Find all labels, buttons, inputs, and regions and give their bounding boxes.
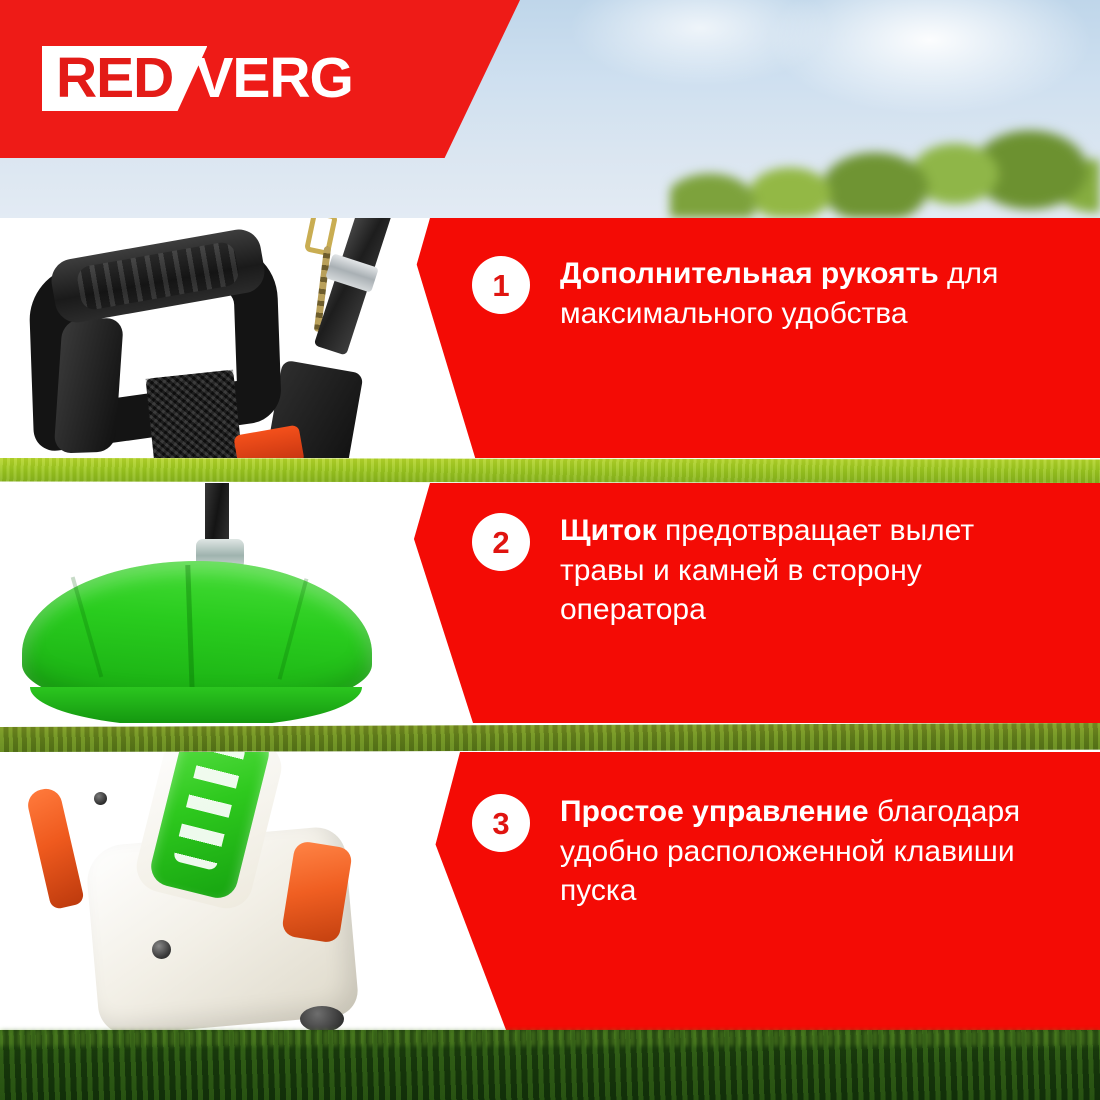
feature-description-3: Простое управление благодаря удобно расп… — [560, 792, 1060, 911]
feature-title-1: Дополнительная рукоять — [560, 257, 939, 290]
body-foot — [300, 1006, 344, 1030]
logo-text-verg: VERG — [195, 46, 353, 111]
grass-divider-1 — [0, 458, 1100, 483]
feature-text-block-1: 1 Дополнительная рукоять для максимально… — [472, 254, 1060, 333]
logo-red-badge: RED — [42, 46, 207, 111]
start-lever — [25, 786, 85, 911]
logo-text-red: RED — [56, 50, 173, 107]
grass-divider-2 — [0, 723, 1100, 752]
guard-lip — [30, 687, 362, 723]
step-badge-2: 2 — [472, 513, 530, 571]
feature-description-2: Щиток предотвращает вылет травы и камней… — [560, 511, 1060, 630]
feature-panel-2: 2 Щиток предотвращает вылет травы и камн… — [0, 483, 1100, 723]
feature-text-block-3: 3 Простое управление благодаря удобно ра… — [472, 792, 1060, 911]
brand-logo[interactable]: RED VERG — [42, 46, 353, 111]
feature-description-1: Дополнительная рукоять для максимального… — [560, 254, 1060, 333]
feature-title-3: Простое управление — [560, 795, 869, 828]
tree-line-background — [670, 108, 1100, 218]
body-screw-lower — [152, 940, 171, 959]
step-badge-1: 1 — [472, 256, 530, 314]
feature-panel-3: 3 Простое управление благодаря удобно ра… — [0, 752, 1100, 1030]
handle-orange-accent — [233, 425, 305, 458]
handle-strap — [146, 370, 243, 458]
feature-panel-1: 1 Дополнительная рукоять для максимально… — [0, 218, 1100, 458]
guard-rib — [278, 578, 309, 679]
feature-title-2: Щиток — [560, 514, 657, 547]
infographic-canvas: RED VERG 1 Дополнительная рукоять для ма… — [0, 0, 1100, 1100]
product-photo-2 — [0, 483, 430, 723]
grass-field-background — [0, 1030, 1100, 1100]
product-photo-1 — [0, 218, 430, 458]
feature-text-block-2: 2 Щиток предотвращает вылет травы и камн… — [472, 511, 1060, 630]
body-screw-upper — [94, 792, 107, 805]
step-badge-3: 3 — [472, 794, 530, 852]
handle-carabiner-icon — [304, 218, 338, 256]
product-photo-3 — [0, 752, 460, 1030]
